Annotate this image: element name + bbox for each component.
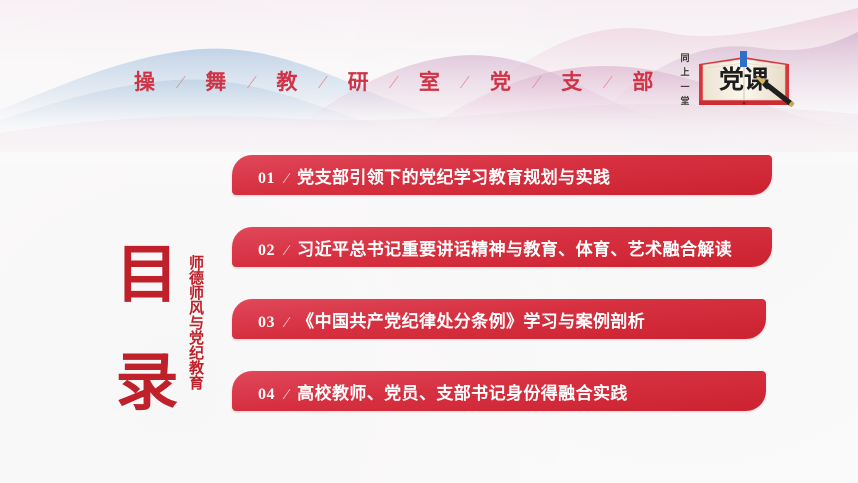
page-title-char: 录 [116,354,179,414]
agenda-item-number: 04 [258,386,275,404]
agenda-item-number: 01 [258,170,275,188]
page-subtitle: 师德师风与党纪教育 [183,255,203,390]
header-separator: / [460,73,469,91]
agenda-item-separator: / [283,315,290,332]
agenda-item-separator: / [283,171,290,188]
header-separator: / [532,73,541,91]
header-separator: / [176,73,185,91]
header-separator: / [603,73,612,91]
agenda-item-label: 党支部引领下的党纪学习教育规划与实践 [297,163,610,188]
agenda-item-number: 03 [258,314,275,332]
header-separator: / [389,73,398,91]
header-char: 操 [134,72,156,93]
agenda-item-content: 01 / 党支部引领下的党纪学习教育规划与实践 [232,163,610,188]
header-separator: / [318,73,327,91]
agenda-item-content: 04 / 高校教师、党员、支部书记身份得融合实践 [232,379,628,404]
logo-side-char: 同 [680,54,689,63]
page-title-char: 目 [116,246,179,306]
agenda-item-label: 高校教师、党员、支部书记身份得融合实践 [297,379,628,404]
agenda-item-01[interactable]: 01 / 党支部引领下的党纪学习教育规划与实践 [232,155,772,195]
brand-logo: 同 上 一 堂 [678,48,802,110]
agenda-item-label: 习近平总书记重要讲话精神与教育、体育、艺术融合解读 [297,235,732,260]
header-char: 教 [276,72,298,93]
agenda-item-separator: / [283,243,290,260]
agenda-item-content: 02 / 习近平总书记重要讲话精神与教育、体育、艺术融合解读 [232,235,732,260]
agenda-item-03[interactable]: 03 / 《中国共产党纪律处分条例》学习与案例剖析 [232,299,766,339]
agenda-item-04[interactable]: 04 / 高校教师、党员、支部书记身份得融合实践 [232,371,766,411]
page-title: 目 录 [104,246,190,414]
agenda-item-separator: / [283,387,290,404]
header-char: 研 [348,72,370,93]
agenda-item-content: 03 / 《中国共产党纪律处分条例》学习与案例剖析 [232,307,645,332]
logo-side-char: 上 [680,68,689,77]
logo-side-char: 堂 [680,97,689,106]
header-char: 支 [561,72,583,93]
logo-side-char: 一 [680,83,689,92]
header-separator: / [247,73,256,91]
header-char: 党 [490,72,512,93]
agenda-item-label: 《中国共产党纪律处分条例》学习与案例剖析 [297,307,645,332]
agenda-item-02[interactable]: 02 / 习近平总书记重要讲话精神与教育、体育、艺术融合解读 [232,227,772,267]
open-book-icon: 党课 [694,48,802,110]
header-title: 操 / 舞 / 教 / 研 / 室 / 党 / 支 / 部 [134,62,654,102]
header-char: 室 [419,72,441,93]
logo-side-text: 同 上 一 堂 [678,54,692,106]
header-char: 部 [632,72,654,93]
slide-canvas: 操 / 舞 / 教 / 研 / 室 / 党 / 支 / 部 同 上 一 堂 [0,0,858,483]
agenda-list: 01 / 党支部引领下的党纪学习教育规划与实践 02 / 习近平总书记重要讲话精… [232,155,792,411]
agenda-item-number: 02 [258,242,275,260]
header-char: 舞 [205,72,227,93]
